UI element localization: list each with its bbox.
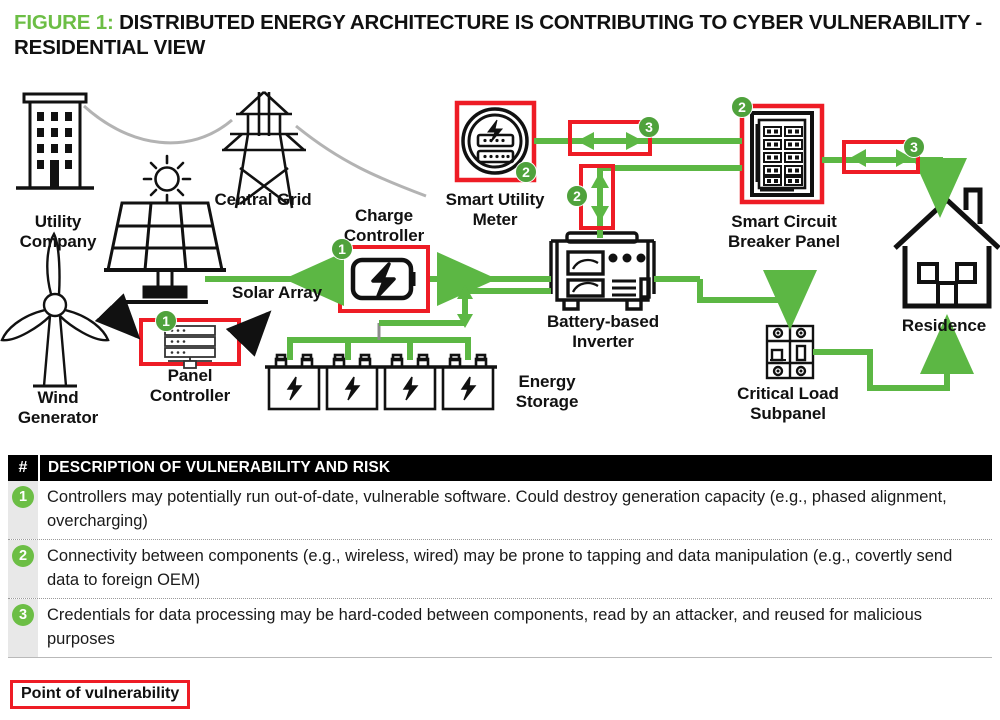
wind-turbine-icon [2,234,108,386]
arrow-into-panel-controller [112,310,137,336]
architecture-diagram: 1 1 2 2 3 2 3 Utility Company Central Gr… [0,78,1000,450]
row-number-cell: 2 [8,540,38,598]
sun-icon [144,156,190,202]
label-breaker-panel: Smart Circuit Breaker Panel [702,212,866,252]
office-building-icon [16,94,94,188]
row-badge-3: 3 [12,604,34,626]
vulnerability-badge-breaker-panel[interactable]: 2 [731,96,753,118]
legend-point-of-vulnerability: Point of vulnerability [10,680,190,709]
row-description-1: Controllers may potentially run out-of-d… [38,481,992,539]
page-title: FIGURE 1: DISTRIBUTED ENERGY ARCHITECTUR… [14,10,989,60]
vulnerability-badge-link-meter-breaker[interactable]: 3 [638,116,660,138]
figure-label: FIGURE 1: [14,11,114,34]
row-number-cell: 3 [8,599,38,657]
label-residence: Residence [888,316,1000,336]
subpanel-breaker-icon [767,326,813,378]
column-header-description: DESCRIPTION OF VULNERABILITY AND RISK [40,459,390,477]
line-to-critical-load [700,279,790,318]
server-rack-icon [165,326,215,368]
table-header-row: # DESCRIPTION OF VULNERABILITY AND RISK [8,455,992,481]
wire-grid-to-meter [296,126,426,196]
figure-title-text: DISTRIBUTED ENERGY ARCHITECTURE IS CONTR… [14,11,982,59]
label-panel-controller: Panel Controller [134,366,246,406]
table-row: 1 Controllers may potentially run out-of… [8,481,992,540]
bus-energy-storage [290,340,468,360]
label-wind-generator: Wind Generator [2,388,114,428]
vulnerability-badge-charge-controller[interactable]: 1 [331,238,353,260]
line-breaker-to-residence [822,160,940,206]
arrow-out-of-panel-controller [243,314,268,340]
label-smart-utility-meter: Smart Utility Meter [428,190,562,230]
label-solar-array: Solar Array [205,283,349,303]
label-central-grid: Central Grid [196,190,330,210]
label-critical-load-subpanel: Critical Load Subpanel [708,384,868,424]
table-row: 3 Credentials for data processing may be… [8,599,992,658]
label-utility-company: Utility Company [8,212,108,252]
vulnerability-badge-link-breaker-residence[interactable]: 3 [903,136,925,158]
row-badge-1: 1 [12,486,34,508]
inverter-icon [551,233,654,309]
row-description-3: Credentials for data processing may be h… [38,599,992,657]
house-icon [895,190,999,306]
label-energy-storage: Energy Storage [496,372,598,412]
column-header-number: # [8,455,40,481]
row-number-cell: 1 [8,481,38,539]
vulnerability-badge-panel-controller[interactable]: 1 [155,310,177,332]
label-battery-inverter: Battery-based Inverter [530,312,676,352]
vulnerability-badge-link-meter-inverter[interactable]: 2 [566,185,588,207]
battery-bolt-icon [353,260,413,298]
breaker-panel-icon [752,113,812,195]
wire-utility-to-grid [84,106,232,143]
battery-bank-icon [265,355,497,409]
vulnerability-badge-smart-utility-meter[interactable]: 2 [515,161,537,183]
row-description-2: Connectivity between components (e.g., w… [38,540,992,598]
vulnerability-table: # DESCRIPTION OF VULNERABILITY AND RISK … [8,455,992,658]
table-row: 2 Connectivity between components (e.g.,… [8,540,992,599]
row-badge-2: 2 [12,545,34,567]
